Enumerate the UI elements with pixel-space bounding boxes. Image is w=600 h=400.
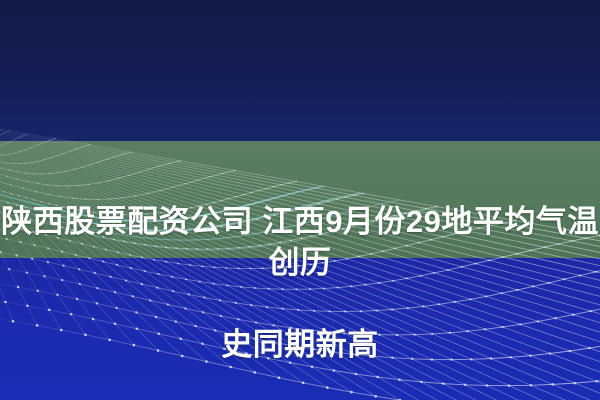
headline-line-1: 陕西股票配资公司 江西9月份29地平均气温创历 xyxy=(1,204,599,280)
banner-image: 陕西股票配资公司 江西9月份29地平均气温创历 史同期新高 xyxy=(0,0,600,400)
headline-line-2: 史同期新高 xyxy=(221,327,379,362)
page-title: 陕西股票配资公司 江西9月份29地平均气温创历 史同期新高 xyxy=(0,160,600,365)
